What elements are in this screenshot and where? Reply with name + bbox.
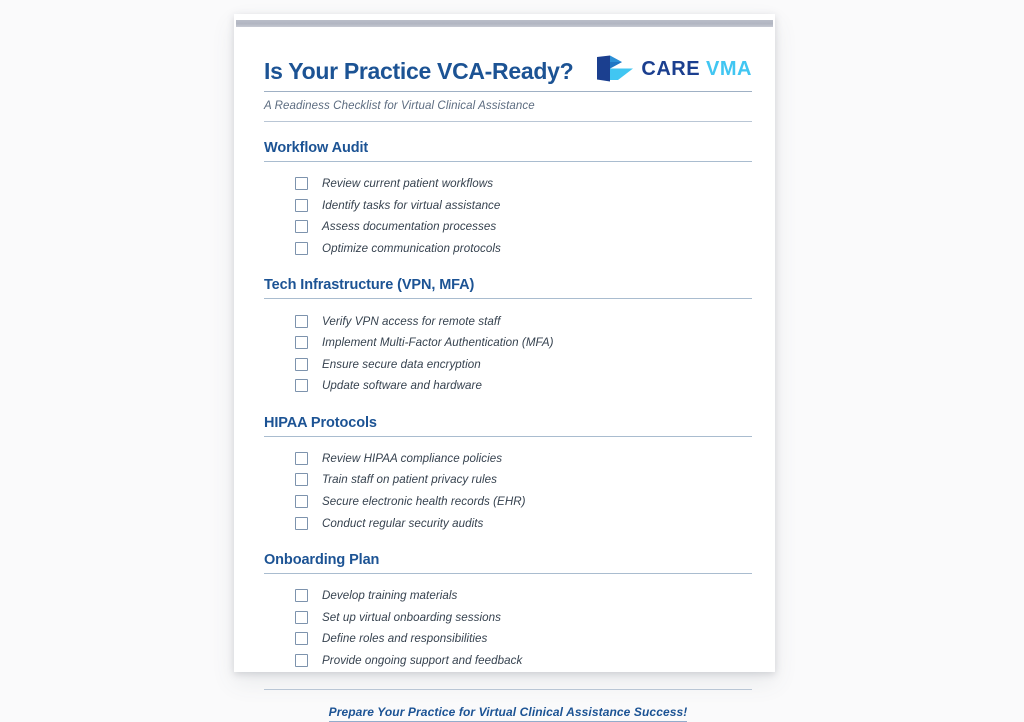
checklist-item-label: Secure electronic health records (EHR)	[322, 495, 526, 508]
checklist-item-label: Set up virtual onboarding sessions	[322, 611, 501, 624]
checklist-items: Verify VPN access for remote staffImplem…	[264, 310, 752, 396]
checklist-item[interactable]: Secure electronic health records (EHR)	[264, 491, 752, 513]
checklist-item-label: Update software and hardware	[322, 379, 482, 392]
checklist-page: Is Your Practice VCA-Ready? CAREVMA	[234, 14, 775, 672]
checklist-item[interactable]: Review current patient workflows	[264, 173, 752, 195]
checklist-item-label: Identify tasks for virtual assistance	[322, 199, 500, 212]
checklist-sections: Workflow AuditReview current patient wor…	[264, 141, 752, 671]
checklist-item-label: Provide ongoing support and feedback	[322, 654, 522, 667]
checklist-items: Review current patient workflowsIdentify…	[264, 173, 752, 259]
checkbox-icon[interactable]	[295, 220, 308, 233]
checklist-item[interactable]: Train staff on patient privacy rules	[264, 469, 752, 491]
page-title: Is Your Practice VCA-Ready?	[264, 60, 573, 84]
checklist-item[interactable]: Identify tasks for virtual assistance	[264, 195, 752, 217]
section-heading: Tech Infrastructure (VPN, MFA)	[264, 278, 752, 294]
checkbox-icon[interactable]	[295, 379, 308, 392]
checklist-item[interactable]: Update software and hardware	[264, 375, 752, 397]
checklist-section: Tech Infrastructure (VPN, MFA)Verify VPN…	[264, 278, 752, 396]
checklist-item[interactable]: Provide ongoing support and feedback	[264, 650, 752, 672]
checklist-item-label: Review current patient workflows	[322, 177, 493, 190]
brand-logo: CAREVMA	[596, 55, 752, 84]
checkbox-icon[interactable]	[295, 336, 308, 349]
checklist-item[interactable]: Ensure secure data encryption	[264, 353, 752, 375]
checklist-item-label: Assess documentation processes	[322, 220, 496, 233]
checklist-item[interactable]: Implement Multi-Factor Authentication (M…	[264, 332, 752, 354]
checklist-item-label: Train staff on patient privacy rules	[322, 473, 497, 486]
checkbox-icon[interactable]	[295, 517, 308, 530]
checkbox-icon[interactable]	[295, 589, 308, 602]
checklist-item[interactable]: Set up virtual onboarding sessions	[264, 606, 752, 628]
checklist-item-label: Review HIPAA compliance policies	[322, 452, 502, 465]
section-heading: Workflow Audit	[264, 141, 752, 157]
brand-name-vma: VMA	[706, 58, 752, 80]
section-divider	[264, 298, 752, 299]
section-heading: Onboarding Plan	[264, 553, 752, 569]
checkbox-icon[interactable]	[295, 473, 308, 486]
section-divider	[264, 436, 752, 437]
checkbox-icon[interactable]	[295, 315, 308, 328]
checkbox-icon[interactable]	[295, 611, 308, 624]
brand-wordmark: CAREVMA	[641, 59, 752, 79]
checkbox-icon[interactable]	[295, 654, 308, 667]
checklist-item[interactable]: Assess documentation processes	[264, 216, 752, 238]
section-heading: HIPAA Protocols	[264, 416, 752, 432]
binder-strip	[236, 20, 773, 27]
checklist-section: Onboarding PlanDevelop training material…	[264, 553, 752, 671]
checkbox-icon[interactable]	[295, 632, 308, 645]
page-subtitle: A Readiness Checklist for Virtual Clinic…	[264, 100, 752, 112]
header-divider-bottom	[264, 121, 752, 122]
checkbox-icon[interactable]	[295, 177, 308, 190]
checklist-items: Review HIPAA compliance policiesTrain st…	[264, 448, 752, 534]
footer-cta-link[interactable]: Prepare Your Practice for Virtual Clinic…	[329, 705, 688, 722]
checklist-item-label: Conduct regular security audits	[322, 517, 483, 530]
checklist-item-label: Define roles and responsibilities	[322, 632, 487, 645]
header-divider-top	[264, 91, 752, 92]
checklist-item-label: Implement Multi-Factor Authentication (M…	[322, 336, 554, 349]
checklist-item-label: Ensure secure data encryption	[322, 358, 481, 371]
checklist-section: Workflow AuditReview current patient wor…	[264, 141, 752, 259]
page-content: Is Your Practice VCA-Ready? CAREVMA	[264, 40, 752, 722]
footer-divider	[264, 689, 752, 690]
checkbox-icon[interactable]	[295, 495, 308, 508]
checklist-item[interactable]: Define roles and responsibilities	[264, 628, 752, 650]
footer: Prepare Your Practice for Virtual Clinic…	[264, 703, 752, 722]
checklist-items: Develop training materialsSet up virtual…	[264, 585, 752, 671]
checklist-section: HIPAA ProtocolsReview HIPAA compliance p…	[264, 416, 752, 534]
checkbox-icon[interactable]	[295, 199, 308, 212]
checkbox-icon[interactable]	[295, 242, 308, 255]
checklist-item[interactable]: Develop training materials	[264, 585, 752, 607]
section-divider	[264, 573, 752, 574]
checklist-item[interactable]: Verify VPN access for remote staff	[264, 310, 752, 332]
document-header: Is Your Practice VCA-Ready? CAREVMA	[264, 40, 752, 84]
checklist-item-label: Develop training materials	[322, 589, 457, 602]
checklist-item[interactable]: Review HIPAA compliance policies	[264, 448, 752, 470]
checklist-item-label: Verify VPN access for remote staff	[322, 315, 500, 328]
section-divider	[264, 161, 752, 162]
checklist-item[interactable]: Optimize communication protocols	[264, 238, 752, 260]
care-vma-chevron-logo-icon	[596, 55, 634, 82]
checklist-item[interactable]: Conduct regular security audits	[264, 512, 752, 534]
checkbox-icon[interactable]	[295, 358, 308, 371]
checklist-item-label: Optimize communication protocols	[322, 242, 501, 255]
brand-name-care: CARE	[641, 58, 700, 80]
page-sheet: Is Your Practice VCA-Ready? CAREVMA	[234, 14, 775, 672]
checkbox-icon[interactable]	[295, 452, 308, 465]
